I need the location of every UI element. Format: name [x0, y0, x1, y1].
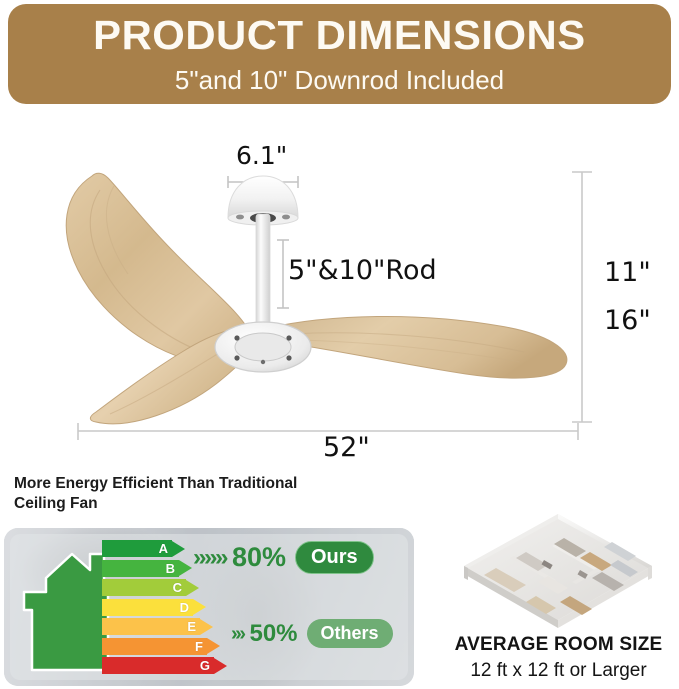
house-icon	[12, 540, 116, 676]
energy-rating-bar-tip	[172, 541, 185, 557]
energy-rating-bar-body: E	[102, 618, 200, 635]
ceiling-fan-illustration	[0, 110, 679, 465]
header-banner: PRODUCT DIMENSIONS 5"and 10" Downrod Inc…	[8, 4, 671, 104]
room-size-title: AVERAGE ROOM SIZE	[438, 634, 679, 656]
label-height-lower: 16"	[604, 305, 651, 336]
energy-rating-letter: A	[159, 542, 168, 555]
energy-rating-letter: C	[173, 581, 182, 594]
energy-rating-bar-body: D	[102, 599, 193, 616]
energy-rating-bar: C	[102, 579, 199, 596]
label-downrod: 5"&10"Rod	[288, 255, 437, 286]
dimension-overall-height	[572, 172, 592, 422]
fan-diagram-area: 6.1" 5"&10"Rod 11" 16" 52"	[0, 110, 679, 465]
chevrons-others-icon: ›››	[231, 624, 243, 644]
energy-rating-bar: A	[102, 540, 185, 557]
label-canopy-width: 6.1"	[236, 141, 287, 170]
energy-rating-bar-body: C	[102, 579, 186, 596]
energy-rating-bar-tip	[179, 560, 192, 576]
room-size-subtitle: 12 ft x 12 ft or Larger	[438, 660, 679, 682]
energy-rating-bar-tip	[207, 638, 220, 654]
energy-rating-bar-tip	[200, 619, 213, 635]
energy-rating-bar-tip	[186, 580, 199, 596]
badge-ours: Ours	[295, 541, 374, 574]
energy-rating-bar: B	[102, 560, 192, 577]
page-title: PRODUCT DIMENSIONS	[93, 15, 585, 56]
energy-efficiency-heading: More Energy Efficient Than Traditional C…	[14, 474, 314, 514]
energy-rating-bar: F	[102, 638, 220, 655]
fan-motor-hub	[215, 322, 311, 372]
energy-rating-bar: G	[102, 657, 227, 674]
metric-row-others: ››› 50% Others	[231, 619, 393, 648]
energy-rating-bar: E	[102, 618, 213, 635]
energy-rating-letter: D	[180, 601, 189, 614]
energy-rating-letter: E	[187, 620, 196, 633]
energy-rating-bar-body: A	[102, 540, 172, 557]
isometric-floor-plan-image	[452, 508, 664, 630]
energy-rating-bar-tip	[214, 658, 227, 674]
average-room-size-section: AVERAGE ROOM SIZE 12 ft x 12 ft or Large…	[438, 508, 679, 689]
energy-rating-bar-tip	[193, 599, 206, 615]
energy-rating-bar-body: G	[102, 657, 214, 674]
page-subtitle: 5"and 10" Downrod Included	[175, 67, 504, 93]
percent-ours: 80%	[232, 544, 286, 571]
metric-row-ours: ›››››› 80% Ours	[193, 541, 374, 574]
label-blade-span: 52"	[323, 432, 370, 463]
energy-rating-letter: G	[200, 659, 210, 672]
energy-rating-bar: D	[102, 599, 206, 616]
energy-rating-bar-body: B	[102, 560, 179, 577]
fan-downrod	[256, 214, 270, 332]
energy-rating-bar-body: F	[102, 638, 207, 655]
label-height-upper: 11"	[604, 257, 651, 288]
energy-rating-letter: F	[195, 640, 203, 653]
chevrons-ours-icon: ››››››	[193, 546, 226, 570]
percent-others: 50%	[249, 622, 297, 646]
energy-rating-letter: B	[166, 562, 175, 575]
badge-others: Others	[307, 619, 393, 648]
